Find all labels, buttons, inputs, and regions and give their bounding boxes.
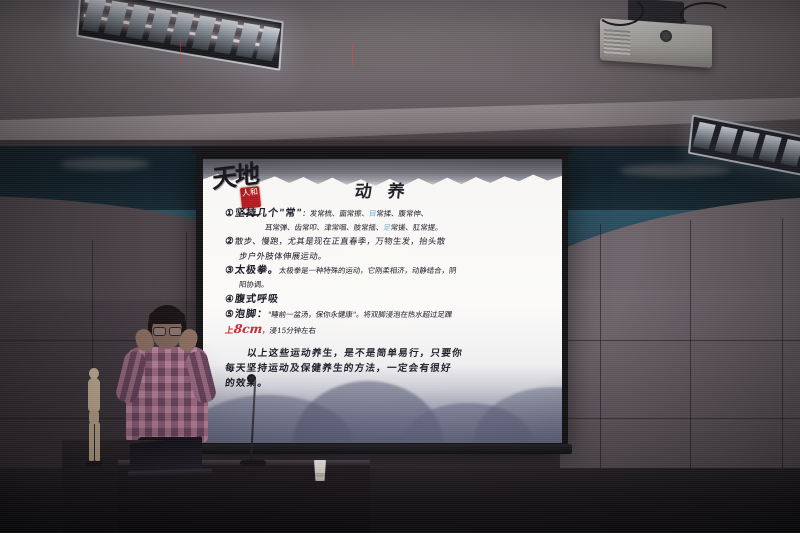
- slide-list-item: ①坚持几个"常"：发常梳、面常擦、目常揉、腹常伸、: [224, 207, 549, 220]
- figurine-leg: [89, 422, 94, 462]
- paper-cup[interactable]: [314, 460, 326, 481]
- slide-list-item: ④腹式呼吸: [224, 293, 549, 306]
- figurine-leg: [95, 422, 100, 462]
- presenter-glasses-left-lens: [153, 327, 166, 336]
- projector-lens: [660, 30, 672, 43]
- wall-panel-seam: [782, 218, 783, 476]
- projector-cable: [680, 2, 732, 28]
- slide-red-measurement-line: 上8cm，浸15分钟左右: [224, 323, 549, 337]
- slide-paragraph-line: 每天坚持运动及保健养生的方法，一定会有很好: [224, 361, 549, 376]
- wall-panel-seam: [600, 224, 601, 474]
- slide-list-item: 阳协调。: [224, 278, 549, 291]
- slide-list-item: ⑤泡脚："睡前一盆汤，保你永健康"。将双脚浸泡在热水超过足踝: [224, 308, 549, 321]
- slide-list-item: 步户外肢体伸展运动。: [224, 250, 549, 263]
- figurine-torso: [88, 378, 100, 412]
- slide-body: ①坚持几个"常"：发常梳、面常擦、目常揉、腹常伸、 耳常弹、齿常叩、津常咽、肢常…: [225, 207, 548, 391]
- slide-list-item: ②散步、慢跑，尤其是现在正直春季，万物生发，抬头散: [224, 235, 549, 248]
- lecture-hall-photo: 天地 人和 动 养 ①坚持几个"常"：发常梳、面常擦、目常揉、腹常伸、 耳常弹、…: [0, 0, 800, 533]
- slide-paragraph-line: 以上这些运动养生，是不是简单易行，只要你: [224, 346, 549, 361]
- slide-list-item: 耳常弹、齿常叩、津常咽、肢常摇、足常搓、肛常提。: [224, 221, 549, 234]
- microphone-base: [240, 460, 266, 466]
- wall-panel-seam: [690, 220, 691, 475]
- acupuncture-model-figurine: [85, 368, 103, 468]
- light-glare-streak: [180, 38, 181, 64]
- projector-vent: [604, 29, 630, 57]
- light-glare-streak: [352, 44, 353, 66]
- figurine-base: [86, 461, 102, 466]
- screen-bottom-weight-bar: [192, 444, 572, 454]
- presenter-hair-fringe: [149, 309, 185, 324]
- slide-list-item: ③太极拳。太极拳是一种特殊的运动，它刚柔相济，动静结合，阴: [224, 264, 549, 277]
- paper-cup-band: [315, 473, 325, 477]
- slide-paragraph-line: 的效果。: [224, 376, 549, 391]
- slide-title: 动 养: [203, 177, 562, 202]
- slide-canvas: 天地 人和 动 养 ①坚持几个"常"：发常梳、面常擦、目常揉、腹常伸、 耳常弹、…: [203, 159, 562, 443]
